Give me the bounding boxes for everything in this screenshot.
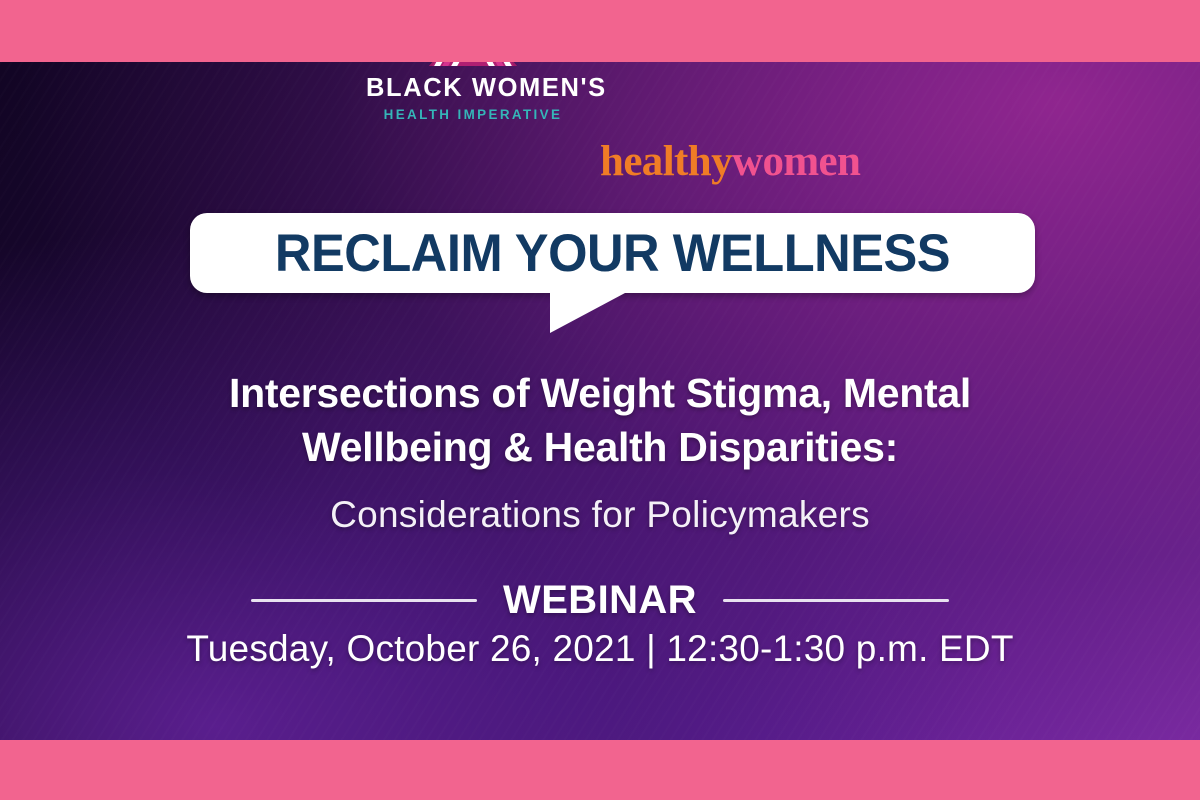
bwhi-name: BLACK WOMEN'S bbox=[366, 76, 580, 102]
bottom-pink-band bbox=[0, 740, 1200, 800]
title-line-1: Intersections of Weight Stigma, Mental bbox=[0, 366, 1200, 420]
event-datetime: Tuesday, October 26, 2021 | 12:30-1:30 p… bbox=[0, 628, 1200, 670]
event-type-label: WEBINAR bbox=[503, 578, 697, 623]
rule-right bbox=[723, 599, 949, 602]
title-subtitle: Considerations for Policymakers bbox=[0, 490, 1200, 540]
event-type-row: WEBINAR bbox=[0, 578, 1200, 623]
poster-content: BLACK WOMEN'S HEALTH IMPERATIVE healthyw… bbox=[0, 0, 1200, 800]
top-pink-band bbox=[0, 0, 1200, 62]
healthywomen-logo: healthywomen bbox=[600, 140, 860, 183]
rule-left bbox=[251, 599, 477, 602]
bwhi-tagline: HEALTH IMPERATIVE bbox=[366, 108, 580, 121]
webinar-promo-graphic: BLACK WOMEN'S HEALTH IMPERATIVE healthyw… bbox=[0, 0, 1200, 800]
campaign-banner-text: RECLAIM YOUR WELLNESS bbox=[209, 213, 1016, 293]
title-line-2: Wellbeing & Health Disparities: bbox=[0, 420, 1200, 474]
campaign-banner: RECLAIM YOUR WELLNESS bbox=[190, 213, 1035, 323]
healthywomen-healthy-word: healthy bbox=[600, 138, 732, 185]
healthywomen-women-word: women bbox=[732, 138, 860, 185]
title-block: Intersections of Weight Stigma, Mental W… bbox=[0, 366, 1200, 540]
